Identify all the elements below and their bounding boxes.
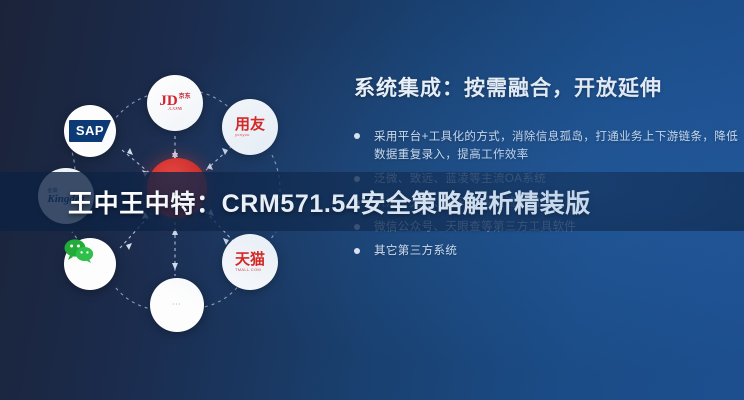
slide-image: JD京东 .COM SAP 用友 yonyou — [0, 0, 744, 400]
list-item: 采用平台+工具化的方式，消除信息孤岛，打通业务上下游链条，降低数据重复录入，提高… — [342, 128, 744, 164]
jd-logo-icon: JD京东 .COM — [159, 94, 190, 112]
other-node-label: ··· — [173, 302, 182, 308]
wechat-logo-icon — [64, 238, 94, 264]
sap-logo-icon: SAP — [69, 120, 111, 142]
yonyou-logo-icon: 用友 yonyou — [235, 117, 265, 137]
bullet-dot-icon — [354, 248, 360, 254]
jd-mark: 京东 — [179, 94, 191, 100]
bullet-dot-icon — [354, 133, 360, 139]
node-yonyou[interactable]: 用友 yonyou — [222, 99, 278, 155]
slide-heading: 系统集成：按需融合，开放延伸 — [354, 72, 734, 102]
tmall-logo-icon: 天猫 TMALL.COM — [235, 252, 265, 272]
node-wechat[interactable] — [64, 238, 116, 290]
list-item-text: 采用平台+工具化的方式，消除信息孤岛，打通业务上下游链条，降低数据重复录入，提高… — [374, 131, 738, 161]
list-item-text: 其它第三方系统 — [374, 245, 457, 257]
node-tmall[interactable]: 天猫 TMALL.COM — [222, 234, 278, 290]
node-sap[interactable]: SAP — [64, 105, 116, 157]
node-jd[interactable]: JD京东 .COM — [147, 75, 203, 131]
node-other[interactable]: ··· — [150, 278, 204, 332]
page-title: 王中王中特：CRM571.54安全策略解析精装版 — [0, 172, 744, 231]
list-item: 其它第三方系统 — [342, 243, 744, 260]
jd-sub: .COM — [159, 107, 190, 112]
